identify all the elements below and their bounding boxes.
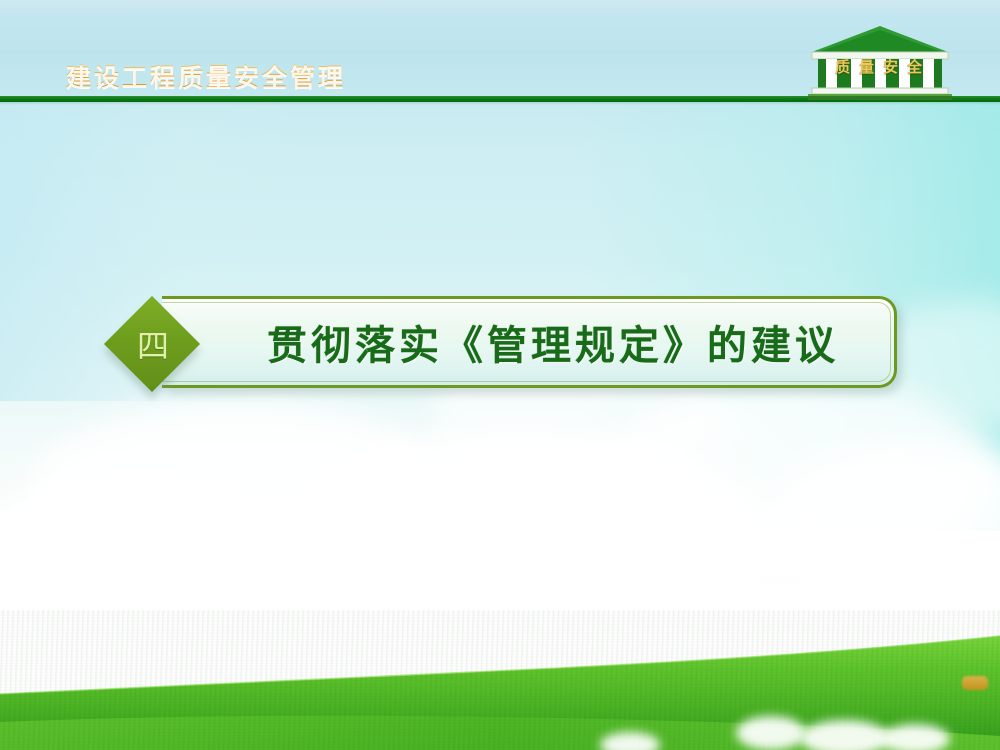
grass-cloud-blob xyxy=(880,724,950,750)
grass-cloud-blob xyxy=(800,720,890,750)
building-icon xyxy=(806,24,954,102)
section-title-text: 贯彻落实《管理规定》的建议 xyxy=(213,296,893,388)
slide-root: 建设工程质量安全管理 质量安全 四 xyxy=(0,0,1000,750)
section-number-badge: 四 xyxy=(103,292,201,396)
grass-flower-accent xyxy=(962,676,988,690)
section-number-label: 四 xyxy=(103,292,201,396)
section-title-banner: 四 贯彻落实《管理规定》的建议 xyxy=(103,292,903,396)
header-divider-shadow xyxy=(0,102,1000,105)
grass-field xyxy=(0,610,1000,750)
page-title: 建设工程质量安全管理 xyxy=(66,58,346,94)
quality-safety-building-logo: 质量安全 xyxy=(806,24,954,102)
grass-cloud-blob xyxy=(736,716,806,750)
